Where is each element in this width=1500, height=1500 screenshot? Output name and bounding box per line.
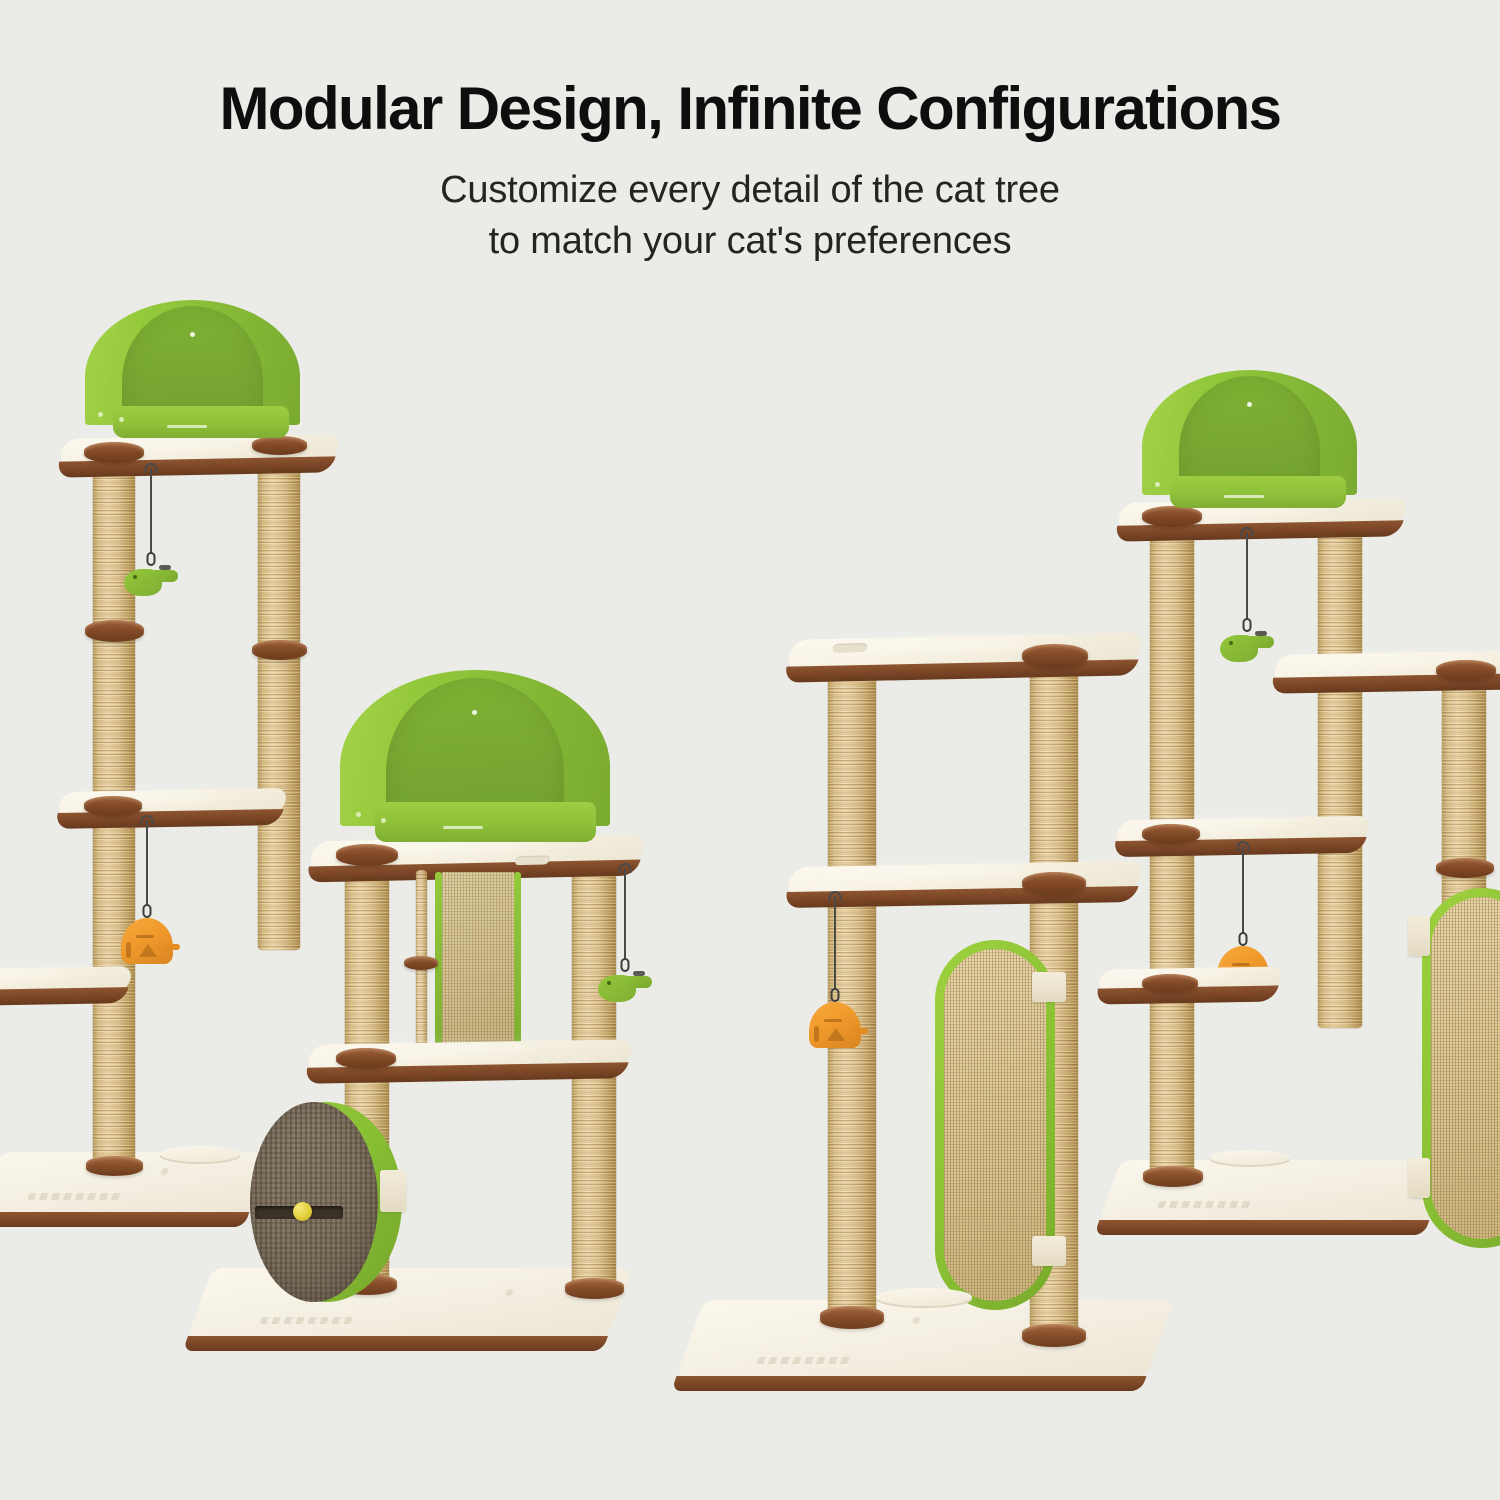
- bird-attach-nub: [633, 971, 645, 976]
- fish-attach-nub: [854, 1028, 868, 1034]
- scratcher-corrugated-face: [250, 1102, 378, 1302]
- support-rod: [416, 870, 427, 1070]
- base-top-surface: [676, 1300, 1174, 1378]
- bell-ball-toy[interactable]: [293, 1202, 312, 1221]
- post-collar-ring: [1436, 858, 1494, 878]
- bird-attach-nub: [1255, 631, 1267, 636]
- brand-logo-emboss: [1157, 1201, 1256, 1208]
- header-block: Modular Design, Infinite Configurations …: [0, 0, 1500, 268]
- page-title: Modular Design, Infinite Configurations: [0, 78, 1500, 139]
- scratch-board-sisal-mat: [1431, 897, 1500, 1239]
- post-foot-collar: [1143, 1166, 1203, 1187]
- post-foot-collar: [1022, 1324, 1086, 1347]
- orange-fish-toy[interactable]: [809, 1002, 861, 1048]
- fish-marking: [814, 1026, 819, 1042]
- fish-marking: [139, 944, 157, 957]
- base-edge-trim: [1094, 1220, 1429, 1235]
- post-top-collar: [1022, 872, 1086, 895]
- scratch-board-bracket: [1032, 1236, 1066, 1266]
- product-marketing-image: Modular Design, Infinite Configurations …: [0, 0, 1500, 1500]
- post-collar-ring: [252, 640, 307, 660]
- sisal-post: [1318, 510, 1362, 1028]
- green-bird-toy[interactable]: [598, 972, 652, 1002]
- hanging-toy-assembly[interactable]: [116, 468, 186, 600]
- vertical-scratch-panel: [435, 872, 521, 1052]
- toy-cord: [150, 468, 152, 554]
- orange-fish-toy[interactable]: [121, 918, 173, 964]
- base-edge-trim: [671, 1376, 1146, 1391]
- toy-clip-icon: [143, 904, 152, 918]
- canopy-seat-cushion: [375, 802, 596, 842]
- post-top-collar: [1022, 644, 1088, 668]
- post-collar-ring: [85, 620, 144, 642]
- panel-sisal-mat: [442, 872, 514, 1052]
- canopy-rivet: [98, 412, 103, 417]
- post-top-collar: [1142, 824, 1200, 844]
- bird-tail: [626, 976, 652, 988]
- seat-seam-line: [167, 425, 207, 428]
- spare-disc-part: [876, 1288, 972, 1306]
- toy-cord: [1242, 846, 1244, 934]
- cat-tree-config-4: [1090, 360, 1500, 1260]
- bird-tail: [152, 570, 178, 582]
- toy-cord: [146, 820, 148, 906]
- subtitle-line-2: to match your cat's preferences: [0, 216, 1500, 267]
- cat-tree-config-2: [190, 660, 720, 1380]
- bird-eye: [607, 981, 611, 985]
- post-top-collar: [1436, 660, 1496, 681]
- green-bird-toy[interactable]: [124, 566, 178, 596]
- page-subtitle: Customize every detail of the cat tree t…: [0, 165, 1500, 268]
- hanging-toy-assembly[interactable]: [1212, 532, 1282, 672]
- hanging-toy-assembly[interactable]: [590, 868, 660, 1018]
- green-bird-toy[interactable]: [1220, 632, 1274, 662]
- canopy-rivet: [1155, 482, 1160, 487]
- post-foot-collar: [565, 1278, 624, 1299]
- toy-clip-icon: [1243, 618, 1252, 632]
- seat-seam-line: [1224, 495, 1264, 498]
- toy-clip-icon: [831, 988, 840, 1002]
- platform-shelf: [0, 966, 133, 996]
- hanging-toy-assembly[interactable]: [112, 820, 182, 970]
- fish-marking: [126, 942, 131, 958]
- fish-attach-nub: [166, 944, 180, 950]
- subtitle-line-1: Customize every detail of the cat tree: [0, 165, 1500, 216]
- bird-attach-nub: [159, 565, 171, 570]
- toy-clip-icon: [147, 552, 156, 566]
- green-canopy-perch: [85, 300, 300, 460]
- toy-clip-icon: [1239, 932, 1248, 946]
- scratch-board-bracket: [1032, 972, 1066, 1002]
- post-foot-collar: [86, 1156, 143, 1176]
- post-collar-ring: [1142, 974, 1198, 993]
- green-canopy-perch: [340, 670, 610, 870]
- hanging-toy-assembly[interactable]: [800, 896, 870, 1056]
- bird-eye: [1229, 641, 1233, 645]
- toy-cord: [834, 896, 836, 990]
- bird-eye: [133, 575, 137, 579]
- panel-edge: [514, 872, 521, 1052]
- shelf-rim-trim: [783, 659, 1138, 682]
- scratcher-mount-bracket: [380, 1170, 406, 1212]
- post-top-collar: [84, 796, 142, 816]
- toy-cord: [624, 868, 626, 960]
- scratch-board-bracket: [1408, 1158, 1430, 1198]
- canopy-seat-cushion: [113, 406, 289, 438]
- post-top-collar: [336, 1048, 396, 1069]
- post-collar-ring: [404, 956, 438, 970]
- canopy-seat-cushion: [1170, 476, 1346, 508]
- green-canopy-perch: [1142, 370, 1357, 530]
- scratch-board-sisal-mat: [944, 949, 1046, 1301]
- spare-disc-part: [1210, 1150, 1290, 1165]
- seat-seam-line: [443, 826, 483, 829]
- fish-marking: [827, 1028, 845, 1041]
- brand-logo-emboss: [260, 1317, 359, 1324]
- shelf-highlight: [818, 866, 1038, 878]
- base-board: [676, 1300, 1174, 1378]
- shelf-notch: [832, 643, 868, 653]
- brand-logo-emboss: [27, 1193, 126, 1200]
- oval-sisal-scratch-board[interactable]: [1422, 888, 1500, 1248]
- base-edge-trim: [183, 1336, 608, 1351]
- shelf-highlight: [0, 970, 67, 979]
- canopy-rivet: [381, 818, 386, 823]
- post-foot-collar: [820, 1306, 884, 1329]
- toy-clip-icon: [621, 958, 630, 972]
- toy-cord: [1246, 532, 1248, 620]
- bird-tail: [1248, 636, 1274, 648]
- scratch-board-bracket: [1408, 916, 1430, 956]
- brand-logo-emboss: [756, 1357, 855, 1364]
